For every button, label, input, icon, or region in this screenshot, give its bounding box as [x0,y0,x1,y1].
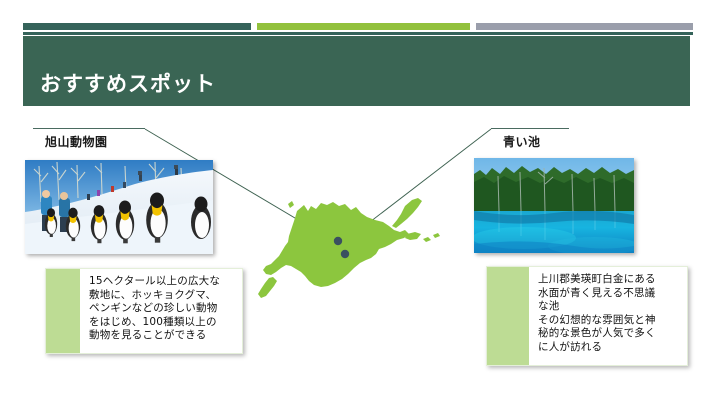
top-bar-underline [23,32,693,35]
description-box-blue-pond: 上川郡美瑛町白金にある 水面が青く見える不思議 な池 その幻想的な雰囲気と神 秘… [486,266,688,366]
desc-line: ペンギンなどの珍しい動物 [89,302,236,316]
desc-line: 15ヘクタール以上の広大な [89,275,236,289]
shiretoko-peninsula [392,198,422,228]
desc-line: をはじめ、100種類以上の [89,316,236,330]
top-bar-light-green [257,23,470,30]
desc-line: 水面が青く見える不思議 [538,287,681,301]
blue-pond-photo [474,158,634,253]
islet-1 [423,237,431,242]
desc-accent-zoo [46,269,80,353]
top-bar-grey [476,23,693,30]
desc-line: 敷地に、ホッキョクグマ、 [89,289,236,303]
top-bar-dark-green [23,23,251,30]
desc-line: に人が訪れる [538,341,681,355]
islet-2 [433,233,440,238]
callout-blue-pond: 青い池 [491,128,569,150]
hokkaido-map [255,186,465,301]
desc-line: その幻想的な雰囲気と神 [538,314,681,328]
page-title: おすすめスポット [23,74,216,106]
marker-asahiyama-zoo [334,237,342,245]
callout-label-pond: 青い池 [491,129,569,150]
slide-canvas: おすすめスポット 旭山動物園 青い池 [0,0,715,400]
desc-line: 上川郡美瑛町白金にある [538,273,681,287]
description-box-asahiyama-zoo: 15ヘクタール以上の広大な 敷地に、ホッキョクグマ、 ペンギンなどの珍しい動物 … [45,268,243,354]
desc-accent-pond [487,267,529,365]
desc-body-zoo: 15ヘクタール以上の広大な 敷地に、ホッキョクグマ、 ペンギンなどの珍しい動物 … [80,269,242,353]
desc-body-pond: 上川郡美瑛町白金にある 水面が青く見える不思議 な池 その幻想的な雰囲気と神 秘… [529,267,687,365]
penguin-walk-photo [25,160,213,254]
callout-label-zoo: 旭山動物園 [33,129,145,150]
oshima-peninsula [258,277,277,298]
islet-3 [288,201,294,208]
top-accent-bars [23,23,693,30]
callout-asahiyama-zoo: 旭山動物園 [33,128,145,150]
marker-blue-pond [341,250,349,258]
desc-line: 動物を見ることができる [89,329,236,343]
desc-line: 秘的な景色が人気で多く [538,327,681,341]
desc-line: な池 [538,300,681,314]
title-banner: おすすめスポット [23,36,690,106]
